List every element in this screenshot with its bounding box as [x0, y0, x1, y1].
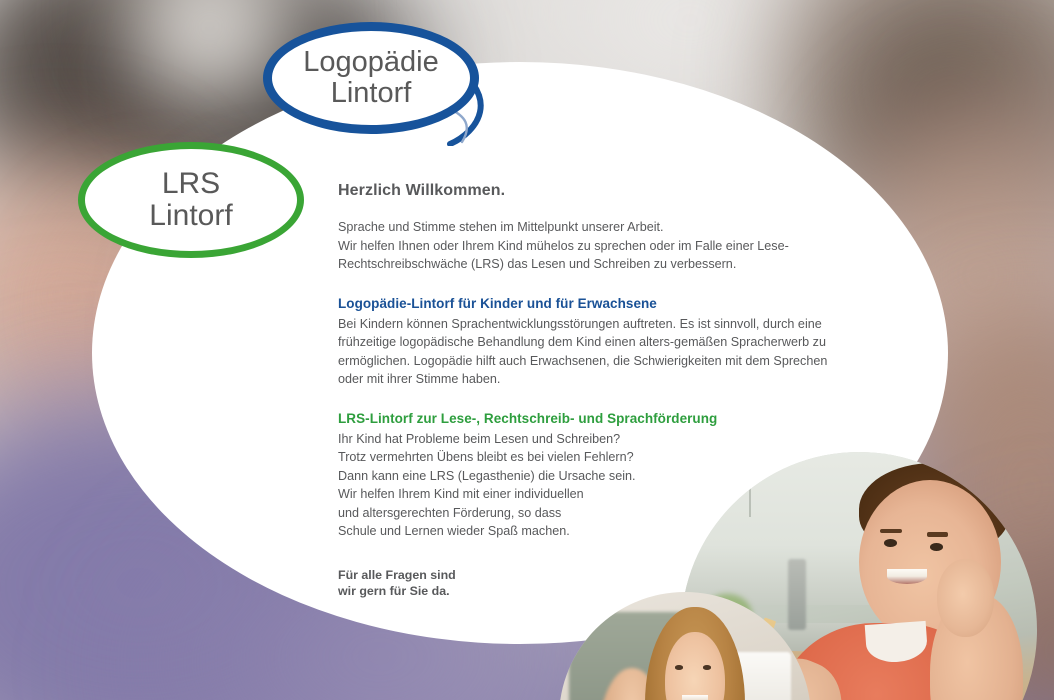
section-logopaedie-heading: Logopädie-Lintorf für Kinder und für Erw…: [338, 296, 850, 311]
logo-lrs-lintorf[interactable]: LRS Lintorf: [78, 142, 304, 258]
section-lrs-line-5: und altersgerechten Förderung, so dass: [338, 504, 850, 523]
boy-hand-on-cheek: [937, 559, 994, 637]
section-lrs-heading: LRS-Lintorf zur Lese-, Rechtschreib- und…: [338, 411, 850, 426]
closing-line-1: Für alle Fragen sind: [338, 567, 850, 584]
intro-line-2: Wir helfen Ihnen oder Ihrem Kind mühelos…: [338, 237, 850, 256]
closing-line-2: wir gern für Sie da.: [338, 583, 850, 600]
main-content: Herzlich Willkommen. Sprache und Stimme …: [338, 182, 850, 600]
boy-eyebrow-right: [927, 532, 948, 537]
teacher-with-children-photo: [559, 592, 811, 700]
teacher-eye-right: [703, 665, 712, 670]
boy-eye-left: [884, 539, 897, 547]
section-lrs-line-4: Wir helfen Ihrem Kind mit einer individu…: [338, 485, 850, 504]
intro-line-1: Sprache und Stimme stehen im Mittelpunkt…: [338, 218, 850, 237]
adult-arm-orange: [740, 592, 811, 688]
boy-eye-right: [930, 543, 943, 551]
intro-paragraph: Sprache und Stimme stehen im Mittelpunkt…: [338, 218, 850, 274]
boy-eyebrow-left: [880, 529, 901, 534]
logo-oval-blue: [263, 22, 479, 134]
closing-note: Für alle Fragen sind wir gern für Sie da…: [338, 567, 850, 600]
section-lrs-line-3: Dann kann eine LRS (Legasthenie) die Urs…: [338, 467, 850, 486]
logo-logopaedie-lintorf[interactable]: Logopädie Lintorf: [263, 22, 479, 134]
section-logopaedie-body: Bei Kindern können Sprachentwicklungsstö…: [338, 315, 850, 389]
section-lrs-line-1: Ihr Kind hat Probleme beim Lesen und Sch…: [338, 430, 850, 449]
section-lrs: LRS-Lintorf zur Lese-, Rechtschreib- und…: [338, 411, 850, 541]
teacher-eye-left: [675, 665, 684, 670]
section-lrs-line-2: Trotz vermehrten Übens bleibt es bei vie…: [338, 448, 850, 467]
section-logopaedie: Logopädie-Lintorf für Kinder und für Erw…: [338, 296, 850, 389]
intro-line-3: Rechtschreibschwäche (LRS) das Lesen und…: [338, 255, 850, 274]
welcome-heading: Herzlich Willkommen.: [338, 182, 850, 200]
section-lrs-line-6: Schule und Lernen wieder Spaß machen.: [338, 522, 850, 541]
teacher-smile: [682, 695, 707, 700]
logo-oval-green: [78, 142, 304, 258]
section-lrs-body: Ihr Kind hat Probleme beim Lesen und Sch…: [338, 430, 850, 541]
